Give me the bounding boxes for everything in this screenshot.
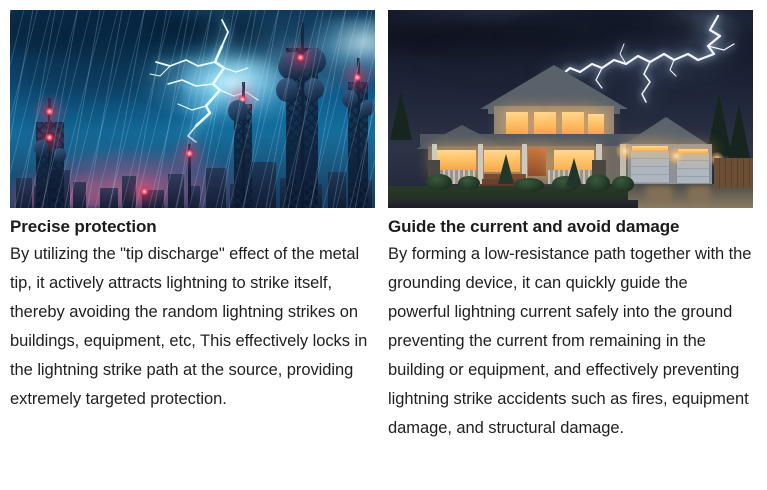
window-lit	[534, 112, 556, 134]
door-lit	[528, 148, 546, 176]
window-lit	[562, 112, 584, 134]
feature-cards-page: Precise protection By utilizing the "tip…	[0, 0, 767, 490]
window-lit	[506, 112, 528, 134]
card-title: Precise protection	[10, 216, 375, 238]
rain-overlay	[10, 10, 375, 208]
wood-fence	[714, 158, 753, 188]
shrub	[586, 174, 610, 192]
porch-light	[616, 142, 634, 160]
street	[388, 200, 638, 208]
window-lit	[436, 150, 476, 170]
driveway-reflection	[688, 186, 710, 208]
shrub	[426, 174, 452, 190]
driveway-reflection	[646, 186, 672, 208]
card-body-text: By utilizing the "tip discharge" effect …	[10, 240, 375, 414]
shrub	[612, 176, 634, 192]
feature-cards-row: Precise protection By utilizing the "tip…	[10, 10, 757, 443]
lightning-over-suburban-house-photo	[388, 10, 753, 208]
shrub	[458, 176, 480, 190]
shrub-conifer	[566, 158, 582, 186]
card-title: Guide the current and avoid damage	[388, 216, 753, 238]
garage-door	[630, 150, 670, 184]
garage-transom-window	[632, 146, 668, 152]
window-lit	[588, 114, 604, 134]
shrub-conifer	[498, 154, 514, 184]
feature-card-guide-the-current: Guide the current and avoid damage By fo…	[388, 10, 753, 443]
lightning-strike-telecom-towers-photo	[10, 10, 375, 208]
card-body-text: By forming a low-resistance path togethe…	[388, 240, 753, 443]
porch-light	[668, 148, 684, 164]
feature-card-precise-protection: Precise protection By utilizing the "tip…	[10, 10, 375, 414]
shrub	[514, 178, 544, 192]
